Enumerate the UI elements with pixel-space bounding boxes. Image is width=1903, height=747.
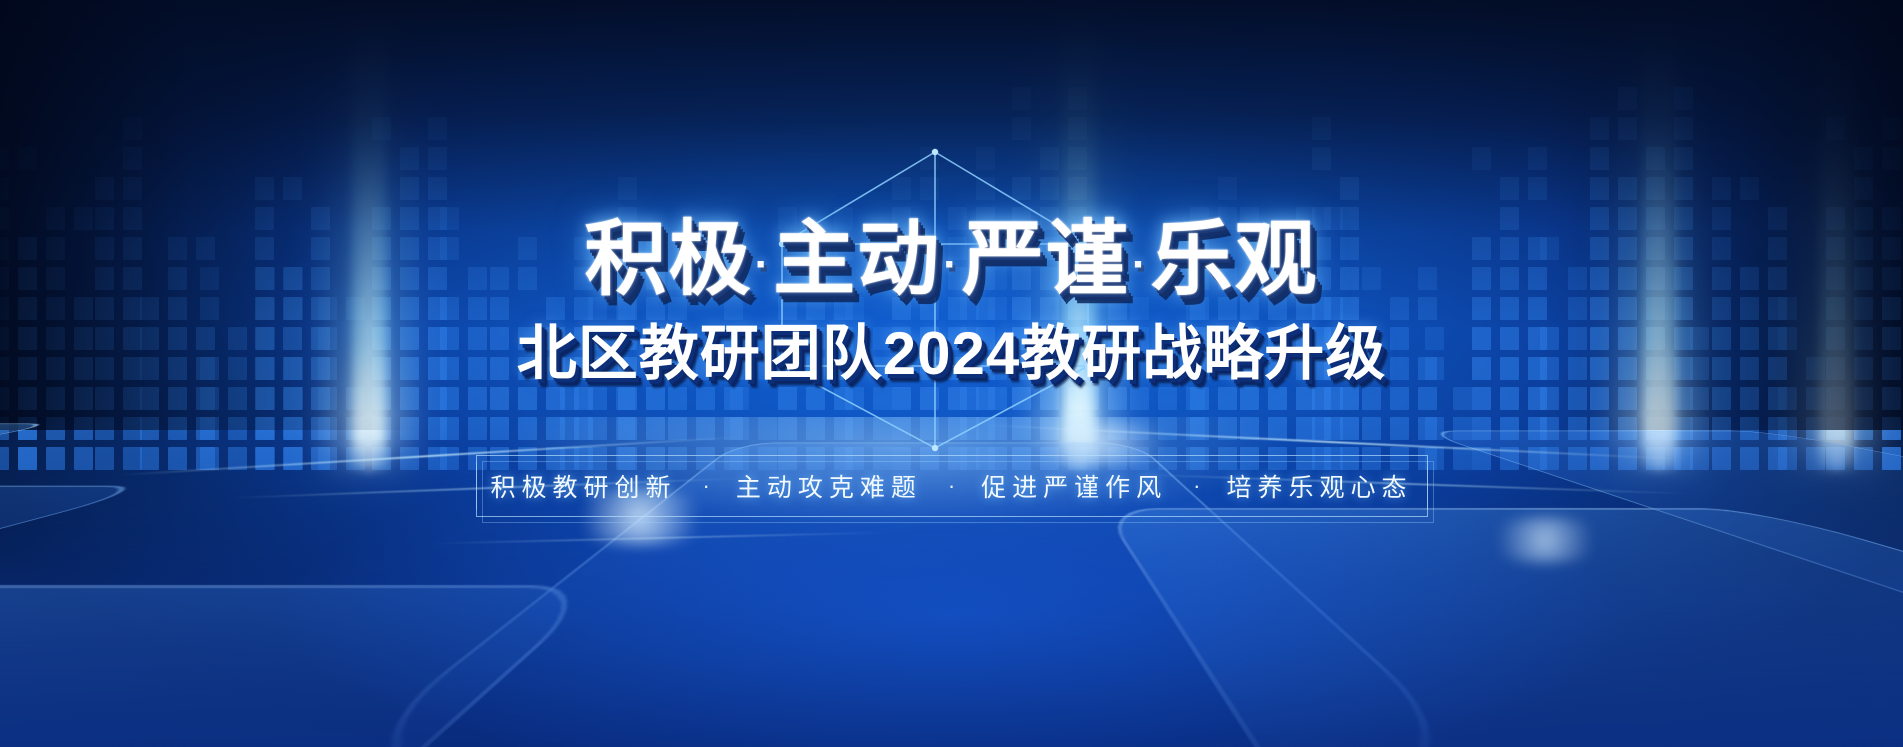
page-subtitle: 北区教研团队2024教研战略升级 [0, 305, 1903, 392]
tagline-separator-1: · [702, 473, 709, 499]
promo-banner: 积极·主动·严谨·乐观 北区教研团队2024教研战略升级 积极教研创新 · 主动… [0, 0, 1903, 747]
tagline-frame: 积极教研创新 · 主动攻克难题 · 促进严谨作风 · 培养乐观心态 [476, 455, 1428, 517]
tagline-separator-2: · [948, 473, 955, 499]
tagline-item-1: 积极教研创新 [490, 468, 676, 504]
tagline-separator-3: · [1193, 473, 1200, 499]
title-part-2: 主动 [773, 214, 941, 305]
title-part-3: 严谨 [962, 214, 1130, 305]
title-part-1: 积极 [584, 214, 752, 305]
title-separator-3: · [1130, 240, 1151, 289]
banner-content: 积极·主动·严谨·乐观 北区教研团队2024教研战略升级 积极教研创新 · 主动… [0, 0, 1903, 747]
tagline-item-4: 培养乐观心态 [1227, 468, 1413, 504]
title-part-4: 乐观 [1151, 214, 1319, 305]
title-separator-2: · [941, 240, 962, 289]
title-separator-1: · [753, 240, 774, 289]
page-title: 积极·主动·严谨·乐观 [0, 192, 1903, 311]
tagline-list: 积极教研创新 · 主动攻克难题 · 促进严谨作风 · 培养乐观心态 [476, 455, 1428, 517]
tagline-item-3: 促进严谨作风 [981, 468, 1167, 504]
tagline-item-2: 主动攻克难题 [736, 468, 922, 504]
